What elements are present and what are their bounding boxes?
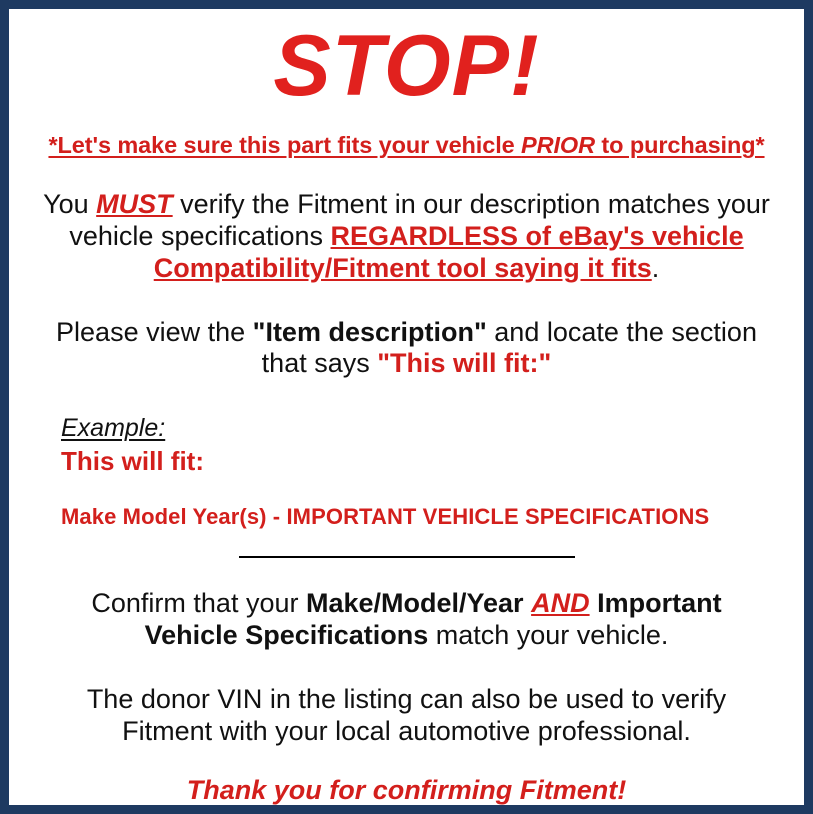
closing-thank-you: Thank you for confirming Fitment! [17, 775, 796, 806]
divider-wrapper [17, 556, 796, 558]
stop-heading: STOP! [17, 23, 796, 109]
fitment-notice-card: STOP! *Let's make sure this part fits yo… [0, 0, 813, 814]
paragraph-verify-fitment: You MUST verify the Fitment in our descr… [43, 189, 770, 285]
tagline-emphasis-prior: PRIOR [521, 132, 595, 158]
paragraph-donor-vin: The donor VIN in the listing can also be… [43, 684, 770, 748]
para2-emphasis-this-will-fit: "This will fit:" [377, 348, 551, 378]
notice-inner-panel: STOP! *Let's make sure this part fits yo… [9, 9, 804, 805]
tagline-text-after: to purchasing* [595, 132, 765, 158]
para3-text-1: Confirm that your [91, 588, 306, 618]
example-fit-heading: This will fit: [61, 445, 796, 478]
example-spec-line: Make Model Year(s) - IMPORTANT VEHICLE S… [61, 504, 796, 530]
example-label: Example: [61, 414, 796, 443]
para1-text-3: . [652, 253, 660, 283]
para2-emphasis-item-description: "Item description" [253, 317, 487, 347]
paragraph-confirm-match: Confirm that your Make/Model/Year AND Im… [43, 588, 770, 652]
para2-text-1: Please view the [56, 317, 253, 347]
para1-emphasis-must: MUST [96, 189, 173, 219]
para3-emphasis-and: AND [531, 588, 590, 618]
para3-emphasis-make-model-year: Make/Model/Year [306, 588, 524, 618]
para3-space-1 [524, 588, 532, 618]
example-block: Example: This will fit: Make Model Year(… [17, 414, 796, 530]
paragraph-item-description: Please view the "Item description" and l… [43, 317, 770, 381]
horizontal-rule [239, 556, 575, 558]
para1-text-1: You [43, 189, 96, 219]
para3-text-2: match your vehicle. [428, 620, 668, 650]
tagline-text-before: *Let's make sure this part fits your veh… [48, 132, 521, 158]
para3-space-2 [590, 588, 598, 618]
tagline: *Let's make sure this part fits your veh… [17, 132, 796, 159]
